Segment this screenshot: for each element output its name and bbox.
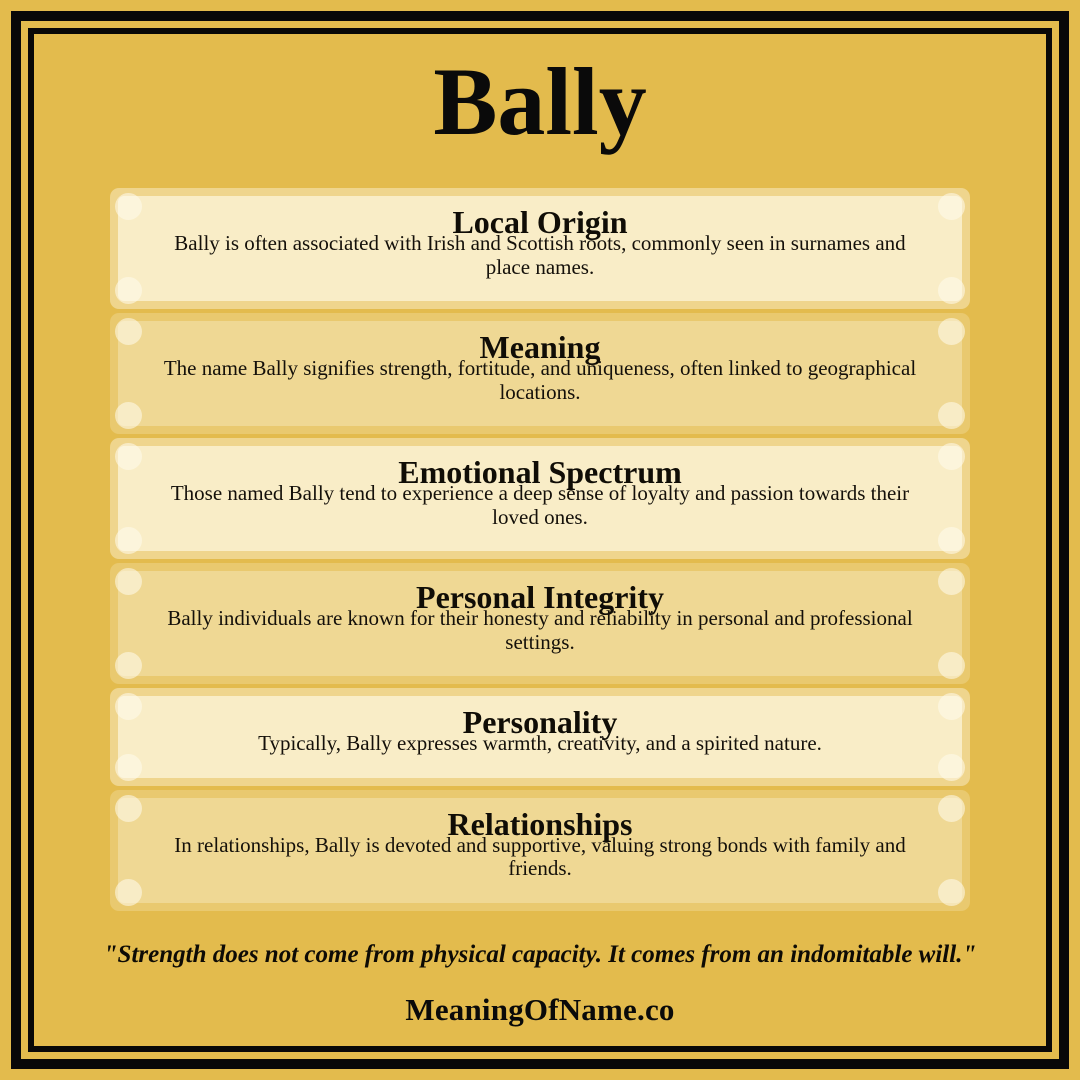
info-card-body: In relationships, Bally is devoted and s… (140, 834, 940, 881)
info-card: Personal IntegrityBally individuals are … (110, 563, 970, 684)
info-card: MeaningThe name Bally signifies strength… (110, 313, 970, 434)
info-card: PersonalityTypically, Bally expresses wa… (110, 688, 970, 786)
info-card-inner: MeaningThe name Bally signifies strength… (118, 321, 962, 426)
info-card-body: Bally individuals are known for their ho… (140, 607, 940, 654)
info-card-inner: RelationshipsIn relationships, Bally is … (118, 798, 962, 903)
brand-wordmark: MeaningOfName.co (405, 992, 674, 1028)
info-card-body: Typically, Bally expresses warmth, creat… (140, 732, 940, 756)
info-card-list: Local OriginBally is often associated wi… (110, 188, 970, 915)
info-card-inner: Local OriginBally is often associated wi… (118, 196, 962, 301)
info-card: RelationshipsIn relationships, Bally is … (110, 790, 970, 911)
info-card-inner: PersonalityTypically, Bally expresses wa… (118, 696, 962, 778)
info-card-body: Those named Bally tend to experience a d… (140, 482, 940, 529)
info-card-inner: Personal IntegrityBally individuals are … (118, 571, 962, 676)
footer: "Strength does not come from physical ca… (34, 941, 1046, 1046)
info-card: Emotional SpectrumThose named Bally tend… (110, 438, 970, 559)
info-card-body: Bally is often associated with Irish and… (140, 232, 940, 279)
page-title: Bally (433, 54, 646, 150)
info-card: Local OriginBally is often associated wi… (110, 188, 970, 309)
footer-quote: "Strength does not come from physical ca… (104, 941, 977, 970)
info-card-inner: Emotional SpectrumThose named Bally tend… (118, 446, 962, 551)
poster-content: Bally Local OriginBally is often associa… (34, 34, 1046, 1046)
poster: Bally Local OriginBally is often associa… (0, 0, 1080, 1080)
info-card-body: The name Bally signifies strength, forti… (140, 357, 940, 404)
